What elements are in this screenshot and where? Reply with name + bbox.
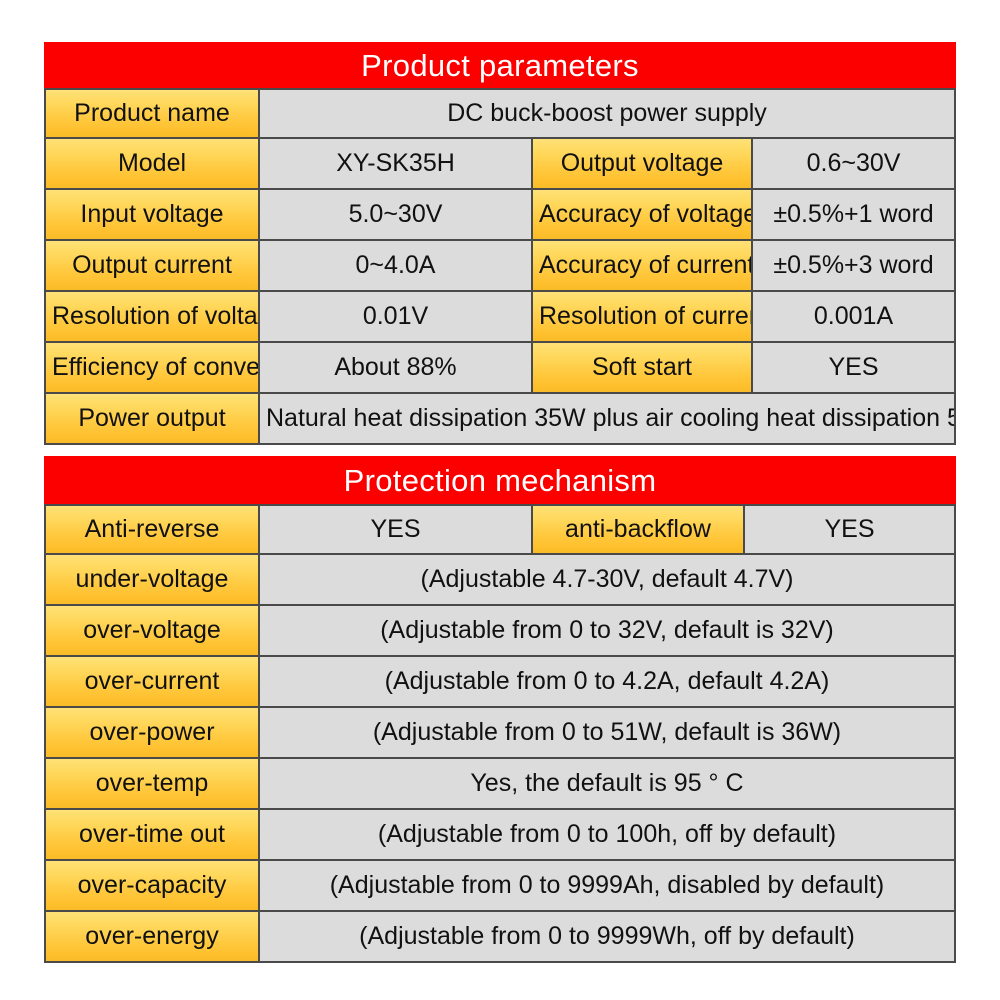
row-label: Output current bbox=[44, 241, 260, 292]
row-label: over-energy bbox=[44, 912, 260, 963]
row-value: (Adjustable from 0 to 4.2A, default 4.2A… bbox=[260, 657, 956, 708]
row-value: (Adjustable from 0 to 9999Ah, disabled b… bbox=[260, 861, 956, 912]
row-value: YES bbox=[260, 504, 533, 555]
row-value: 5.0~30V bbox=[260, 190, 533, 241]
table-row: Anti-reverse YES anti-backflow YES bbox=[44, 504, 956, 555]
product-parameters-header: Product parameters bbox=[44, 42, 956, 88]
table-row: over-power (Adjustable from 0 to 51W, de… bbox=[44, 708, 956, 759]
table-row: over-capacity (Adjustable from 0 to 9999… bbox=[44, 861, 956, 912]
row-value: (Adjustable from 0 to 9999Wh, off by def… bbox=[260, 912, 956, 963]
row-label: Resolution of voltage bbox=[44, 292, 260, 343]
table-row: over-time out (Adjustable from 0 to 100h… bbox=[44, 810, 956, 861]
row-value-secondary: ±0.5%+1 word bbox=[753, 190, 956, 241]
protection-mechanism-header: Protection mechanism bbox=[44, 456, 956, 504]
row-label: over-voltage bbox=[44, 606, 260, 657]
row-value: About 88% bbox=[260, 343, 533, 394]
row-label: Power output bbox=[44, 394, 260, 445]
row-label: Input voltage bbox=[44, 190, 260, 241]
row-value-secondary: YES bbox=[745, 504, 956, 555]
row-value: Natural heat dissipation 35W plus air co… bbox=[260, 394, 956, 445]
row-value: 0.01V bbox=[260, 292, 533, 343]
table-row: Model XY-SK35H Output voltage 0.6~30V bbox=[44, 139, 956, 190]
row-label: under-voltage bbox=[44, 555, 260, 606]
table-row: Product name DC buck-boost power supply bbox=[44, 88, 956, 139]
row-value: (Adjustable 4.7-30V, default 4.7V) bbox=[260, 555, 956, 606]
row-value: 0~4.0A bbox=[260, 241, 533, 292]
row-value: DC buck-boost power supply bbox=[260, 88, 956, 139]
product-parameters-table: Product name DC buck-boost power supply … bbox=[44, 88, 956, 445]
row-value: Yes, the default is 95 ° C bbox=[260, 759, 956, 810]
table-row: over-temp Yes, the default is 95 ° C bbox=[44, 759, 956, 810]
row-label: Anti-reverse bbox=[44, 504, 260, 555]
table-row: over-current (Adjustable from 0 to 4.2A,… bbox=[44, 657, 956, 708]
row-label-secondary: Soft start bbox=[533, 343, 753, 394]
row-label: over-current bbox=[44, 657, 260, 708]
table-row: under-voltage (Adjustable 4.7-30V, defau… bbox=[44, 555, 956, 606]
row-label: over-capacity bbox=[44, 861, 260, 912]
row-label: Model bbox=[44, 139, 260, 190]
row-value-secondary: YES bbox=[753, 343, 956, 394]
table-row: Input voltage 5.0~30V Accuracy of voltag… bbox=[44, 190, 956, 241]
row-value-secondary: ±0.5%+3 word bbox=[753, 241, 956, 292]
row-label: Efficiency of conversion bbox=[44, 343, 260, 394]
row-label: over-power bbox=[44, 708, 260, 759]
row-label-secondary: Accuracy of voltage bbox=[533, 190, 753, 241]
row-value: (Adjustable from 0 to 32V, default is 32… bbox=[260, 606, 956, 657]
table-row: over-energy (Adjustable from 0 to 9999Wh… bbox=[44, 912, 956, 963]
row-label-secondary: Output voltage bbox=[533, 139, 753, 190]
row-label: over-temp bbox=[44, 759, 260, 810]
row-label-secondary: anti-backflow bbox=[533, 504, 745, 555]
row-value-secondary: 0.001A bbox=[753, 292, 956, 343]
row-label-secondary: Resolution of current bbox=[533, 292, 753, 343]
spec-sheet: Product parameters Product name DC buck-… bbox=[44, 42, 956, 963]
table-row: Efficiency of conversion About 88% Soft … bbox=[44, 343, 956, 394]
table-row: Output current 0~4.0A Accuracy of curren… bbox=[44, 241, 956, 292]
row-label: Product name bbox=[44, 88, 260, 139]
table-row: Power output Natural heat dissipation 35… bbox=[44, 394, 956, 445]
row-value-secondary: 0.6~30V bbox=[753, 139, 956, 190]
row-label: over-time out bbox=[44, 810, 260, 861]
table-row: over-voltage (Adjustable from 0 to 32V, … bbox=[44, 606, 956, 657]
row-value: XY-SK35H bbox=[260, 139, 533, 190]
row-value: (Adjustable from 0 to 51W, default is 36… bbox=[260, 708, 956, 759]
row-label-secondary: Accuracy of current bbox=[533, 241, 753, 292]
table-row: Resolution of voltage 0.01V Resolution o… bbox=[44, 292, 956, 343]
row-value: (Adjustable from 0 to 100h, off by defau… bbox=[260, 810, 956, 861]
protection-mechanism-table: Anti-reverse YES anti-backflow YES under… bbox=[44, 504, 956, 963]
